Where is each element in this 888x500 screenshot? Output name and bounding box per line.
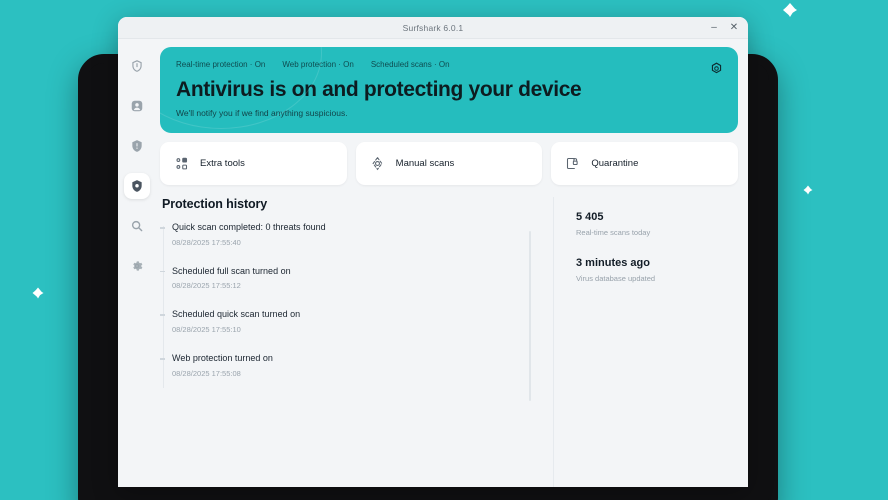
stat-label: Virus database updated xyxy=(576,274,738,283)
status-realtime-protection: Real-time protection · On xyxy=(176,60,265,69)
list-item[interactable]: Scheduled full scan turned on 08/28/2025… xyxy=(172,266,543,291)
history-text: Quick scan completed: 0 threats found xyxy=(172,222,543,234)
manual-scans-icon xyxy=(370,156,385,171)
status-scheduled-scans: Scheduled scans · On xyxy=(371,60,450,69)
stat-virus-database: 3 minutes ago Virus database updated xyxy=(576,257,738,283)
history-timestamp: 08/28/2025 17:55:08 xyxy=(172,369,543,378)
gear-icon[interactable] xyxy=(709,61,725,77)
protection-history: Protection history Quick scan completed:… xyxy=(160,197,553,487)
page-title: Protection history xyxy=(162,197,543,211)
card-extra-tools[interactable]: Extra tools xyxy=(160,142,347,185)
history-text: Web protection turned on xyxy=(172,353,543,365)
minimize-button[interactable]: – xyxy=(704,18,724,38)
list-item[interactable]: Quick scan completed: 0 threats found 08… xyxy=(172,222,543,247)
app-window: Surfshark 6.0.1 – ✕ xyxy=(118,17,748,487)
stat-value: 3 minutes ago xyxy=(576,257,738,269)
card-label: Manual scans xyxy=(396,158,455,169)
window-controls: – ✕ xyxy=(704,17,744,39)
window-titlebar: Surfshark 6.0.1 – ✕ xyxy=(118,17,748,39)
extra-tools-icon xyxy=(174,156,189,171)
sidebar-rail xyxy=(118,39,156,487)
card-manual-scans[interactable]: Manual scans xyxy=(356,142,543,185)
sidebar-item-search[interactable] xyxy=(124,213,150,239)
close-button[interactable]: ✕ xyxy=(724,18,744,38)
stat-realtime-scans: 5 405 Real-time scans today xyxy=(576,211,738,237)
stats-panel: 5 405 Real-time scans today 3 minutes ag… xyxy=(553,197,738,487)
history-text: Scheduled full scan turned on xyxy=(172,266,543,278)
card-label: Extra tools xyxy=(200,158,245,169)
sidebar-item-alternative-id[interactable] xyxy=(124,93,150,119)
sidebar-item-settings[interactable] xyxy=(124,253,150,279)
card-label: Quarantine xyxy=(591,158,638,169)
stat-value: 5 405 xyxy=(576,211,738,223)
list-item[interactable]: Scheduled quick scan turned on 08/28/202… xyxy=(172,309,543,334)
status-web-protection: Web protection · On xyxy=(282,60,353,69)
hero-status-list: Real-time protection · On Web protection… xyxy=(176,60,722,69)
stat-label: Real-time scans today xyxy=(576,228,738,237)
history-timestamp: 08/28/2025 17:55:40 xyxy=(172,238,543,247)
hero-subtitle: We'll notify you if we find anything sus… xyxy=(176,108,722,118)
history-timestamp: 08/28/2025 17:55:12 xyxy=(172,281,543,290)
list-item[interactable]: Web protection turned on 08/28/2025 17:5… xyxy=(172,353,543,378)
main-content: Real-time protection · On Web protection… xyxy=(156,39,748,487)
card-quarantine[interactable]: Quarantine xyxy=(551,142,738,185)
sidebar-item-antivirus[interactable] xyxy=(124,173,150,199)
sidebar-item-alert[interactable] xyxy=(124,133,150,159)
history-scrollbar[interactable] xyxy=(529,231,531,401)
history-list: Quick scan completed: 0 threats found 08… xyxy=(160,222,543,378)
sidebar-item-vpn-shield[interactable] xyxy=(124,53,150,79)
protection-panel: Protection history Quick scan completed:… xyxy=(160,197,738,487)
history-text: Scheduled quick scan turned on xyxy=(172,309,543,321)
action-cards: Extra tools Manual scans Quarantine xyxy=(160,142,738,185)
window-title: Surfshark 6.0.1 xyxy=(403,23,464,33)
quarantine-icon xyxy=(565,156,580,171)
history-timestamp: 08/28/2025 17:55:10 xyxy=(172,325,543,334)
window-body: Real-time protection · On Web protection… xyxy=(118,39,748,487)
hero-title: Antivirus is on and protecting your devi… xyxy=(176,78,722,101)
hero-banner: Real-time protection · On Web protection… xyxy=(160,47,738,133)
